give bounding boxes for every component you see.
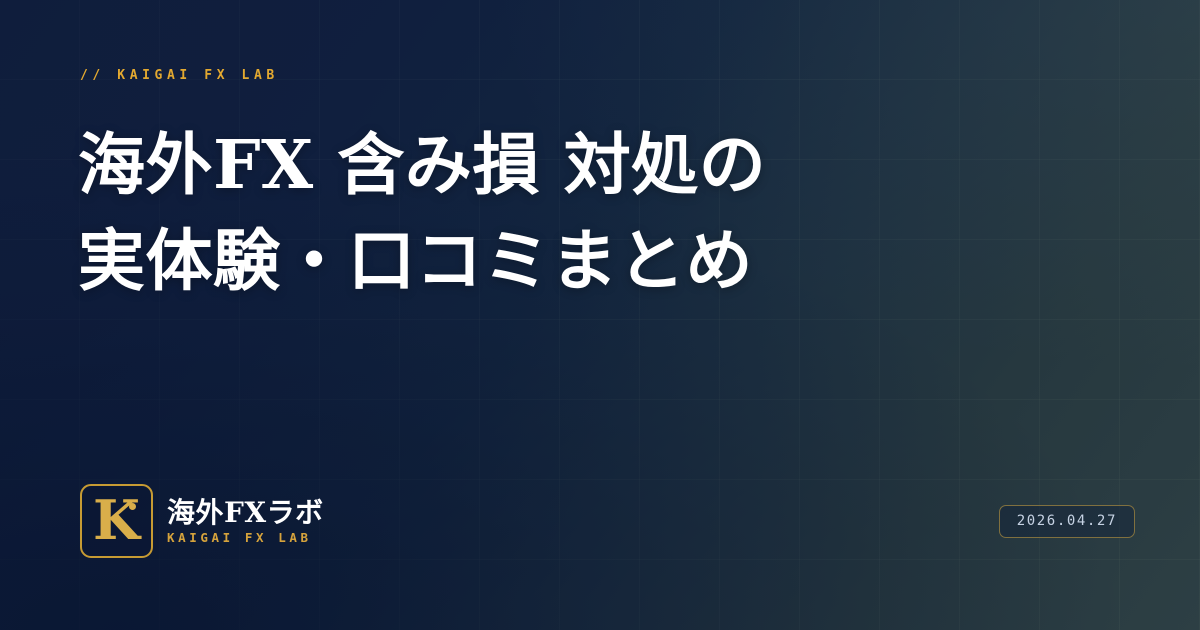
brand-text: 海外FXラボ KAIGAI FX LAB	[167, 497, 324, 545]
brand-name-en: KAIGAI FX LAB	[167, 530, 324, 545]
date-badge: 2026.04.27	[999, 505, 1135, 538]
brand-name-jp: 海外FXラボ	[167, 497, 324, 528]
page-title: 海外FX 含み損 対処の 実体験・口コミまとめ	[78, 117, 1078, 309]
brand-lockup: K 海外FXラボ KAIGAI FX LAB	[80, 484, 324, 558]
eyebrow-label: // KAIGAI FX LAB	[80, 68, 279, 83]
ogp-banner: // KAIGAI FX LAB 海外FX 含み損 対処の 実体験・口コミまとめ…	[0, 0, 1200, 630]
logo-dot-icon	[129, 503, 136, 510]
page-title-line-1: 海外FX 含み損 対処の	[78, 117, 1078, 213]
page-title-line-2: 実体験・口コミまとめ	[78, 213, 1078, 309]
logo-letter-k: K	[82, 493, 151, 547]
logo-mark: K	[80, 484, 153, 558]
